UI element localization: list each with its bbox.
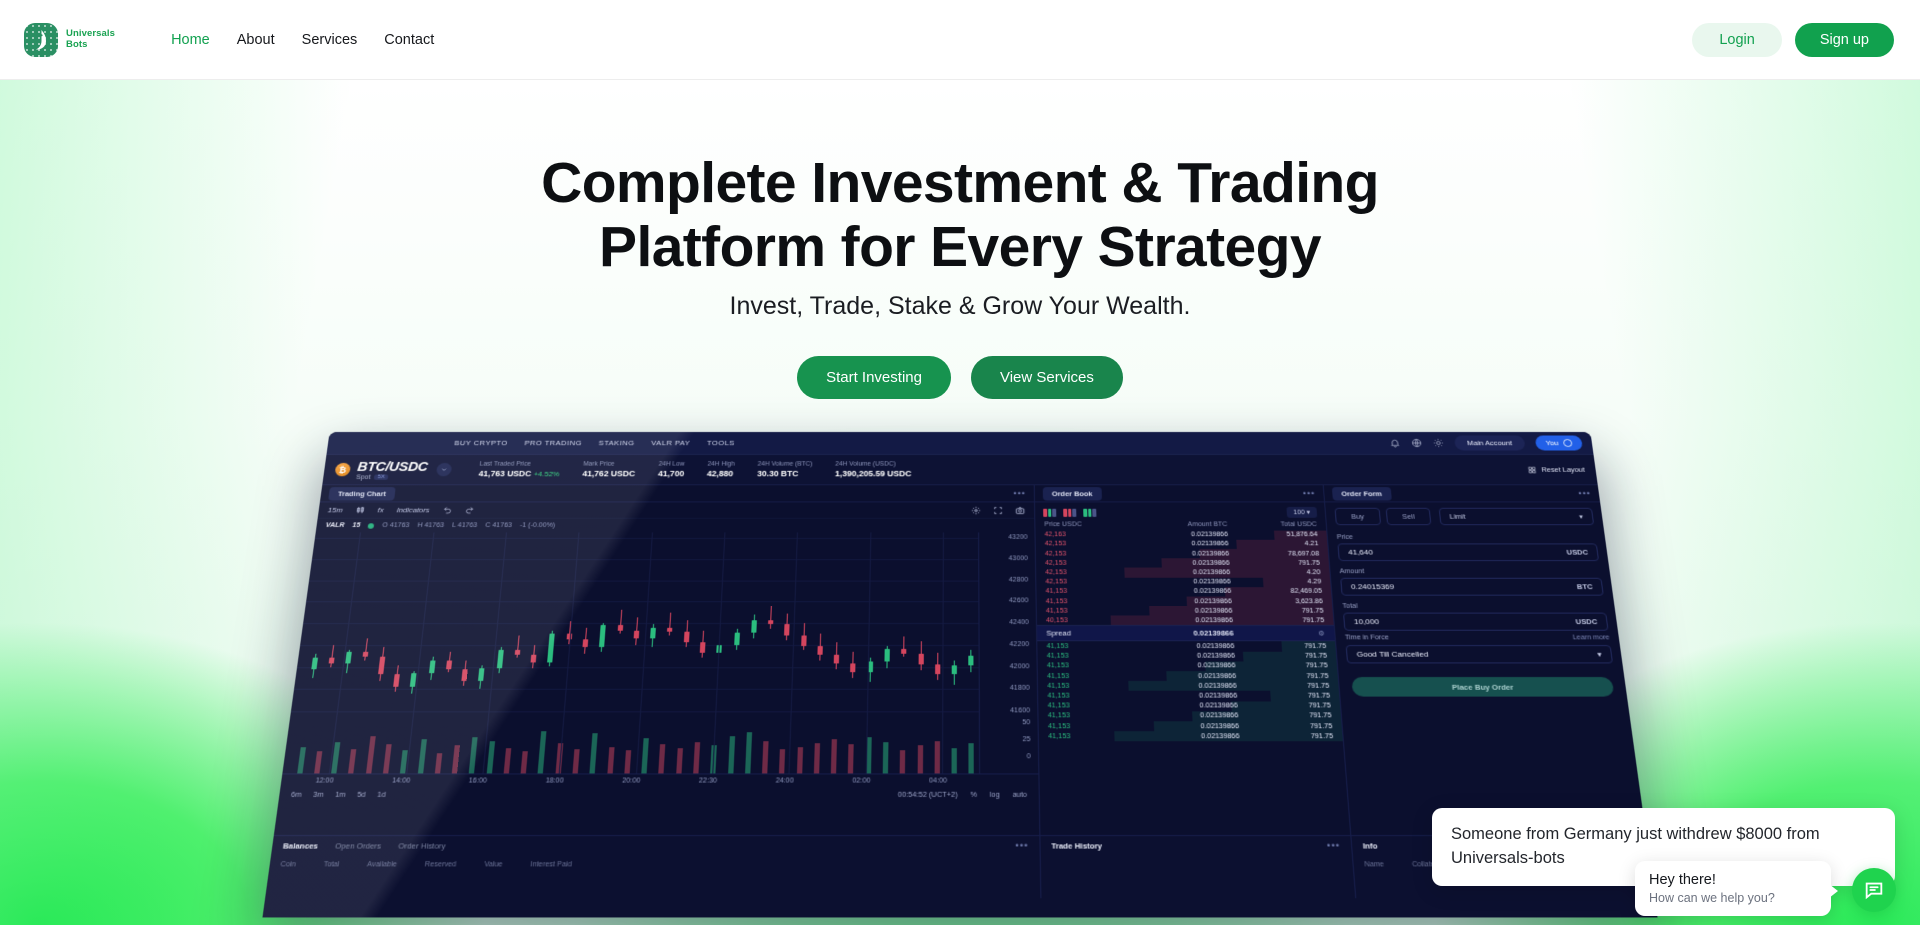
time-tick-label: 14:00 (392, 777, 411, 784)
row-amount: 0.02139866 (1130, 653, 1235, 660)
order-book-row[interactable]: 42,1530.021398664.21 (1036, 540, 1328, 549)
signup-button[interactable]: Sign up (1795, 23, 1894, 57)
you-pill-label: You (1545, 439, 1559, 447)
site-header: Universals Bots Home About Services Cont… (0, 0, 1920, 80)
row-price: 42,153 (1045, 579, 1127, 586)
dash-nav-tools[interactable]: TOOLS (707, 439, 735, 447)
time-axis: 12:0014:0016:0018:0020:0022:3024:0002:00… (280, 773, 1038, 787)
hero-section: Complete Investment & Trading Platform f… (0, 80, 1920, 925)
price-value: 41,640 (1348, 548, 1373, 556)
row-price: 41,153 (1047, 653, 1131, 660)
balances-columns: Coin Total Available Reserved Value Inte… (268, 855, 1040, 875)
scale-log-button[interactable]: log (990, 792, 1000, 799)
time-tick-label: 18:00 (545, 777, 564, 784)
balances-tabs: Balances Open Orders Order History ••• (271, 836, 1040, 855)
chart-panel-more-icon[interactable]: ••• (1013, 489, 1026, 498)
scale-auto-button[interactable]: auto (1012, 792, 1027, 799)
dashboard-topbar-actions: Main Account You (1388, 436, 1583, 451)
order-book-depth-select[interactable]: 100 ▾ (1286, 507, 1317, 518)
volume-bar (435, 753, 442, 774)
hero-subtitle: Invest, Trade, Stake & Grow Your Wealth. (0, 292, 1920, 321)
volume-bar (883, 742, 889, 773)
place-buy-order-button[interactable]: Place Buy Order (1351, 677, 1614, 697)
time-tick-label: 20:00 (622, 777, 641, 784)
stat-label: 24H Low (658, 461, 684, 467)
timeframe-5d[interactable]: 5d (357, 792, 366, 799)
price-tick-label: 41600 (1010, 707, 1030, 714)
chat-launcher-button[interactable] (1852, 868, 1896, 912)
row-price: 41,153 (1047, 663, 1131, 670)
market-pair-meta: Spot 5X (356, 474, 427, 480)
col-value: Value (484, 861, 503, 868)
chart-toolbar-right (971, 506, 1025, 515)
volume-bar (314, 752, 322, 774)
scale-percent-button[interactable]: % (970, 792, 977, 799)
col-interest-paid: Interest Paid (530, 861, 572, 868)
main-nav: Home About Services Contact (171, 32, 434, 48)
price-axis: 4320043000428004260042400422004200041800… (978, 532, 1038, 773)
price-tick-label: 43200 (1008, 534, 1027, 540)
row-price: 41,153 (1048, 703, 1133, 710)
bell-icon[interactable] (1389, 438, 1401, 448)
grid-line (329, 532, 361, 773)
book-mode-both-icon[interactable] (1043, 508, 1056, 516)
grid-line (291, 711, 979, 712)
row-total: 791.75 (1229, 560, 1320, 567)
logo-text-line2: Bots (66, 40, 115, 51)
ohlc-close: C 41763 (485, 522, 512, 528)
row-amount: 0.02139866 (1133, 723, 1239, 730)
price-input[interactable]: 41,640 USDC (1337, 543, 1599, 561)
balances-panel: Balances Open Orders Order History ••• C… (265, 836, 1041, 898)
stat-24h-high: 24H High 42,880 (707, 461, 735, 478)
market-pair-symbol: BTC/USDC (357, 459, 429, 473)
ohlc-open: O 41763 (382, 522, 410, 528)
grid-line (303, 623, 978, 624)
reset-layout-label: Reset Layout (1541, 466, 1585, 474)
volume-tick-label: 25 (1022, 736, 1030, 743)
grid-line (406, 532, 434, 773)
volume-bar (693, 742, 700, 773)
time-in-force-value: Good Till Cancelled (1356, 650, 1428, 659)
page-title-line2: Platform for Every Strategy (0, 216, 1920, 280)
order-book-row[interactable]: 41,1530.02139866791.75 (1038, 681, 1339, 691)
order-book-columns: Price USDC Amount BTC Total USDC (1035, 520, 1326, 531)
nav-item-contact[interactable]: Contact (384, 32, 434, 48)
timeframe-6m[interactable]: 6m (291, 792, 302, 799)
row-total: 791.75 (1235, 653, 1327, 660)
order-book-row[interactable]: 41,1530.02139866791.75 (1038, 701, 1340, 711)
chart-footer-right: 00:54:52 (UCT+2) % log auto (898, 792, 1027, 799)
col-total: Total (323, 861, 339, 868)
volume-bar (917, 746, 923, 774)
row-amount: 0.02139866 (1132, 713, 1238, 720)
volume-bar (573, 749, 580, 773)
order-book-row[interactable]: 42,1530.02139866791.75 (1036, 558, 1329, 567)
tab-balances[interactable]: Balances (283, 841, 319, 850)
stat-last-traded-price: Last Traded Price 41,763 USDC +4.52% (478, 461, 560, 478)
timeframe-1m[interactable]: 1m (335, 792, 346, 799)
grid-line (942, 532, 944, 773)
main-account-pill[interactable]: Main Account (1453, 436, 1525, 451)
undo-icon[interactable] (442, 506, 452, 514)
book-col-total: Total USDC (1227, 521, 1317, 527)
volume-bar (848, 744, 854, 773)
total-value: 10,000 (1354, 617, 1380, 626)
theme-sun-icon[interactable] (1432, 438, 1444, 448)
order-book-depth-value: 100 (1293, 510, 1305, 516)
login-button[interactable]: Login (1692, 23, 1781, 57)
row-amount: 0.02139866 (1128, 588, 1231, 595)
leverage-badge: 5X (374, 475, 388, 480)
order-book-row[interactable]: 41,1530.0213986682,469.05 (1036, 587, 1331, 597)
row-price: 42,153 (1045, 541, 1127, 547)
order-book-row[interactable]: 41,1530.02139866791.75 (1037, 651, 1336, 661)
time-tick-label: 24:00 (776, 777, 794, 784)
dashboard-topnav: BUY CRYPTO PRO TRADING STAKING VALR PAY … (454, 439, 735, 447)
volume-bar (417, 740, 426, 774)
camera-icon[interactable] (1015, 506, 1025, 515)
order-book-more-icon[interactable]: ••• (1303, 489, 1316, 498)
row-amount: 0.02139866 (1130, 643, 1235, 650)
order-book-row[interactable]: 41,1530.021398663,623.86 (1037, 596, 1333, 606)
volume-bar (745, 732, 752, 773)
order-book-row[interactable]: 42,1530.021398664.29 (1036, 577, 1330, 587)
market-selector-chevron-down-icon[interactable] (436, 463, 452, 476)
volume-bar (366, 736, 376, 773)
buy-tab[interactable]: Buy (1335, 508, 1381, 525)
order-book-panel: Order Book ••• 100 ▾ Price USDC Amount B… (1035, 485, 1352, 835)
order-form-title: Order Form (1332, 487, 1392, 501)
row-price: 41,153 (1047, 643, 1131, 650)
chat-greeting-subtitle: How can we help you? (1649, 891, 1817, 905)
grid-line (789, 532, 798, 773)
row-total: 791.75 (1239, 733, 1333, 740)
volume-bar (624, 750, 631, 773)
time-tick-label: 04:00 (929, 777, 947, 784)
order-side-tabs: Buy Sell Limit ▾ (1325, 502, 1604, 530)
trade-history-panel: Trade History ••• (1040, 836, 1356, 898)
order-book-row[interactable]: 42,1530.021398664.20 (1036, 568, 1330, 577)
order-book-row[interactable]: 41,1530.02139866791.75 (1039, 731, 1343, 741)
time-tick-label: 12:00 (315, 777, 334, 784)
stat-value-text: 41,763 USDC (478, 469, 532, 478)
row-price: 42,153 (1045, 550, 1127, 556)
candlestick-icon[interactable] (355, 506, 365, 514)
market-pair[interactable]: BTC/USDC Spot 5X (356, 459, 429, 480)
amount-label: Amount (1339, 568, 1601, 575)
stat-value: 41,763 USDC +4.52% (478, 469, 560, 478)
row-total: 4.20 (1230, 569, 1321, 576)
total-field-group: Total 10,000 USDC (1333, 599, 1619, 634)
stat-value: 30.30 BTC (757, 469, 812, 478)
volume-bar (814, 743, 820, 773)
order-book-asks: 42,1630.0213986651,876.6442,1530.0213986… (1035, 530, 1333, 625)
row-amount: 0.02139866 (1133, 733, 1240, 740)
total-input[interactable]: 10,000 USDC (1343, 613, 1609, 631)
order-form-header: Order Form ••• (1324, 485, 1600, 502)
time-tick-label: 16:00 (468, 777, 487, 784)
grid-line (297, 667, 979, 668)
header-actions: Login Sign up (1692, 23, 1894, 57)
volume-bar (297, 747, 306, 774)
row-price: 41,153 (1048, 733, 1133, 740)
order-book-display-modes: 100 ▾ (1035, 502, 1325, 519)
reset-layout-button[interactable]: Reset Layout (1528, 466, 1585, 474)
time-in-force-label: Time in Force (1345, 635, 1389, 642)
sell-tab[interactable]: Sell (1385, 508, 1431, 525)
chart-panel-header: Trading Chart ••• (320, 485, 1034, 502)
timeframe-1d[interactable]: 1d (377, 792, 386, 799)
market-type-label: Spot (356, 474, 371, 480)
time-in-force-select[interactable]: Good Till Cancelled ▾ (1346, 645, 1613, 663)
nav-item-services[interactable]: Services (302, 32, 358, 48)
trading-chart-panel: Trading Chart ••• 15m fx Indicators (274, 485, 1041, 835)
learn-more-link[interactable]: Learn more (1572, 635, 1610, 642)
timeframe-3m[interactable]: 3m (313, 792, 324, 799)
grid-line (294, 689, 979, 690)
stat-mark-price: Mark Price 41,762 USDC (582, 461, 636, 478)
volume-bar (831, 740, 837, 774)
price-tick-label: 42200 (1010, 641, 1030, 648)
price-chart[interactable]: 4320043000428004260042400422004200041800… (282, 532, 1038, 773)
logo-text-line1: Universals (66, 29, 115, 40)
total-unit: USDC (1575, 617, 1598, 626)
row-total: 791.75 (1236, 683, 1329, 690)
row-total: 791.75 (1234, 643, 1326, 650)
book-col-amount: Amount BTC (1126, 521, 1228, 527)
stat-value: 41,762 USDC (582, 469, 635, 478)
volume-bar (538, 731, 547, 773)
amount-value: 0.24015369 (1351, 582, 1395, 590)
volume-bar (521, 752, 528, 774)
row-price: 41,153 (1048, 713, 1133, 720)
row-price: 41,153 (1047, 683, 1131, 690)
grid-line (309, 580, 978, 581)
row-total: 791.75 (1233, 617, 1325, 624)
row-price: 41,153 (1046, 608, 1129, 615)
volume-bar (952, 748, 957, 773)
row-amount: 0.02139866 (1129, 617, 1233, 624)
order-book-row[interactable]: 42,1630.0213986651,876.64 (1035, 530, 1327, 539)
order-book-row[interactable]: 41,1530.02139866791.75 (1038, 711, 1341, 721)
chart-panel-title: Trading Chart (328, 487, 396, 501)
chat-greeting-title: Hey there! (1649, 872, 1817, 888)
order-form-more-icon[interactable]: ••• (1578, 489, 1592, 498)
order-book-row[interactable]: 41,1530.02139866791.75 (1038, 691, 1340, 701)
volume-bar (934, 741, 939, 774)
volume-bar (641, 738, 649, 773)
layout-grid-icon (1528, 466, 1537, 473)
volume-tick-label: 0 (1027, 753, 1031, 760)
book-mode-bids-icon[interactable] (1083, 508, 1096, 516)
ohlc-high: H 41763 (417, 522, 444, 528)
tab-info[interactable]: Info (1362, 841, 1377, 850)
row-total: 4.29 (1230, 579, 1321, 586)
dash-nav-buy-crypto[interactable]: BUY CRYPTO (454, 439, 508, 447)
volume-bar (900, 750, 906, 773)
dash-nav-valr-pay[interactable]: VALR PAY (651, 439, 690, 447)
row-amount: 0.02139866 (1129, 608, 1233, 615)
grid-line (712, 532, 725, 773)
row-price: 42,163 (1045, 532, 1127, 538)
time-tick-label: 22:30 (699, 777, 717, 784)
row-price: 40,153 (1046, 617, 1129, 624)
tab-order-history[interactable]: Order History (398, 841, 446, 850)
order-form-panel: Order Form ••• Buy Sell Limit ▾ Price (1324, 485, 1646, 835)
you-pill[interactable]: You (1535, 436, 1583, 451)
ohlc-period: 15 (352, 522, 361, 528)
balances-more-icon[interactable]: ••• (1015, 840, 1029, 850)
row-amount: 0.02139866 (1131, 683, 1236, 690)
logo-text: Universals Bots (66, 29, 115, 50)
volume-bar (728, 736, 735, 773)
chart-interval-button[interactable]: 15m (327, 506, 343, 514)
fullscreen-icon[interactable] (993, 506, 1003, 515)
row-total: 791.75 (1236, 673, 1329, 680)
chart-indicators-button[interactable]: Indicators (396, 506, 430, 514)
grid-line (559, 532, 580, 773)
trade-history-tabs: Trade History ••• (1040, 836, 1351, 855)
dashboard-topbar: BUY CRYPTO PRO TRADING STAKING VALR PAY … (326, 432, 1593, 455)
order-book-row[interactable]: 42,1530.0213986678,697.08 (1036, 549, 1329, 558)
dashboard-mockup: BUY CRYPTO PRO TRADING STAKING VALR PAY … (320, 432, 1600, 925)
price-tick-label: 43000 (1009, 555, 1028, 561)
order-book-row[interactable]: 41,1530.02139866791.75 (1038, 661, 1338, 671)
volume-tick-label: 50 (1022, 719, 1030, 726)
spread-label: Spread (1046, 629, 1129, 638)
time-tick-label: 02:00 (852, 777, 870, 784)
order-book-row[interactable]: 41,1530.02139866791.75 (1037, 642, 1336, 652)
volume-bar (779, 749, 785, 773)
row-price: 41,153 (1047, 693, 1131, 700)
tab-open-orders[interactable]: Open Orders (335, 841, 382, 850)
volume-bar (762, 741, 769, 774)
row-amount: 0.02139866 (1126, 532, 1228, 538)
view-services-button[interactable]: View Services (971, 356, 1123, 399)
amount-input[interactable]: 0.24015369 BTC (1340, 578, 1604, 596)
book-col-price: Price USDC (1044, 521, 1125, 527)
row-price: 41,153 (1046, 588, 1129, 595)
order-book-row[interactable]: 41,1530.02139866791.75 (1038, 671, 1338, 681)
order-book-row[interactable]: 40,1530.02139866791.75 (1037, 616, 1334, 626)
chevron-down-icon: ▾ (1579, 512, 1584, 520)
row-total: 791.75 (1232, 608, 1324, 615)
ohlc-low: L 41763 (452, 522, 478, 528)
row-price: 41,153 (1047, 673, 1131, 680)
ohlc-delta: -1 (-0.00%) (520, 522, 556, 528)
stat-label: 24H Volume (BTC) (757, 461, 812, 467)
order-type-value: Limit (1449, 512, 1466, 520)
nav-item-about[interactable]: About (237, 32, 275, 48)
grid-line (300, 645, 979, 646)
stat-24h-volume-btc: 24H Volume (BTC) 30.30 BTC (757, 461, 813, 478)
logo[interactable]: Universals Bots (24, 23, 115, 57)
dash-nav-staking[interactable]: STAKING (598, 439, 634, 447)
amount-field-group: Amount 0.24015369 BTC (1330, 565, 1614, 600)
volume-bar (383, 744, 392, 773)
tab-trade-history[interactable]: Trade History (1051, 841, 1102, 850)
row-amount: 0.02139866 (1131, 663, 1236, 670)
row-amount: 0.02139866 (1126, 541, 1228, 547)
row-total: 4.21 (1228, 541, 1318, 547)
col-coin: Coin (280, 861, 296, 868)
grid-line (306, 602, 978, 603)
redo-icon[interactable] (464, 506, 474, 514)
row-total: 791.75 (1238, 703, 1331, 710)
nav-item-home[interactable]: Home (171, 32, 210, 48)
price-tick-label: 42600 (1009, 598, 1028, 605)
start-investing-button[interactable]: Start Investing (797, 356, 951, 399)
globe-icon[interactable] (1410, 438, 1422, 448)
live-status-icon (368, 523, 375, 528)
trade-history-more-icon[interactable]: ••• (1327, 840, 1341, 850)
stat-value: 42,880 (707, 469, 735, 478)
volume-bar (797, 747, 803, 774)
total-label: Total (1342, 603, 1606, 610)
order-book-row[interactable]: 41,1530.02139866791.75 (1039, 721, 1343, 731)
row-amount: 0.02139866 (1127, 569, 1230, 576)
col-available: Available (367, 861, 397, 868)
chart-clock: 00:54:52 (UCT+2) (898, 792, 958, 799)
row-price: 42,153 (1045, 569, 1127, 576)
stat-24h-volume-usdc: 24H Volume (USDC) 1,390,205.59 USDC (835, 461, 912, 478)
page-title-line1: Complete Investment & Trading (0, 152, 1920, 216)
order-book-title: Order Book (1043, 487, 1102, 501)
grid-line (635, 532, 652, 773)
row-amount: 0.02139866 (1132, 703, 1238, 710)
price-label: Price (1337, 534, 1597, 540)
volume-bar (676, 748, 683, 773)
dash-nav-pro-trading[interactable]: PRO TRADING (524, 439, 582, 447)
row-amount: 0.02139866 (1127, 560, 1230, 567)
dashboard-body: Trading Chart ••• 15m fx Indicators (274, 485, 1646, 835)
btc-coin-icon: ₿ (334, 463, 351, 476)
row-amount: 0.02139866 (1128, 579, 1231, 586)
time-in-force-group: Good Till Cancelled ▾ (1336, 641, 1623, 667)
ohlc-source: VALR (325, 522, 345, 528)
price-unit: USDC (1566, 548, 1588, 556)
grid-line (312, 559, 978, 560)
chat-bubble-icon (1863, 879, 1885, 901)
volume-bar (607, 747, 614, 774)
chat-greeting-bubble[interactable]: Hey there! How can we help you? (1635, 861, 1831, 916)
row-amount: 0.02139866 (1127, 550, 1230, 556)
order-book-bids: 41,1530.02139866791.7541,1530.0213986679… (1037, 642, 1343, 742)
avatar-icon (1563, 439, 1573, 447)
stat-label: 24H High (707, 461, 735, 467)
stat-24h-low: 24H Low 41,700 (658, 461, 685, 478)
book-mode-asks-icon[interactable] (1063, 508, 1076, 516)
order-book-row[interactable]: 41,1530.02139866791.75 (1037, 606, 1333, 616)
bot-logo-icon (24, 23, 58, 57)
row-total: 3,623.86 (1232, 598, 1323, 605)
volume-bar (452, 746, 460, 774)
chart-fx-button[interactable]: fx (377, 506, 384, 514)
volume-bar (659, 744, 666, 773)
volume-bar (469, 737, 478, 773)
order-type-select[interactable]: Limit ▾ (1439, 508, 1594, 525)
spread-settings-icon[interactable]: ⚙ (1233, 629, 1325, 638)
price-field-group: Price 41,640 USDC (1327, 531, 1608, 565)
gear-icon[interactable] (971, 506, 981, 515)
row-total: 82,469.05 (1231, 588, 1322, 595)
page-title: Complete Investment & Trading Platform f… (0, 152, 1920, 280)
chart-footer: 6m 3m 1m 5d 1d 00:54:52 (UCT+2) % log au… (278, 788, 1039, 803)
time-in-force-header: Time in Force Learn more (1336, 635, 1620, 642)
price-tick-label: 42800 (1009, 576, 1028, 583)
volume-bar (969, 743, 974, 773)
